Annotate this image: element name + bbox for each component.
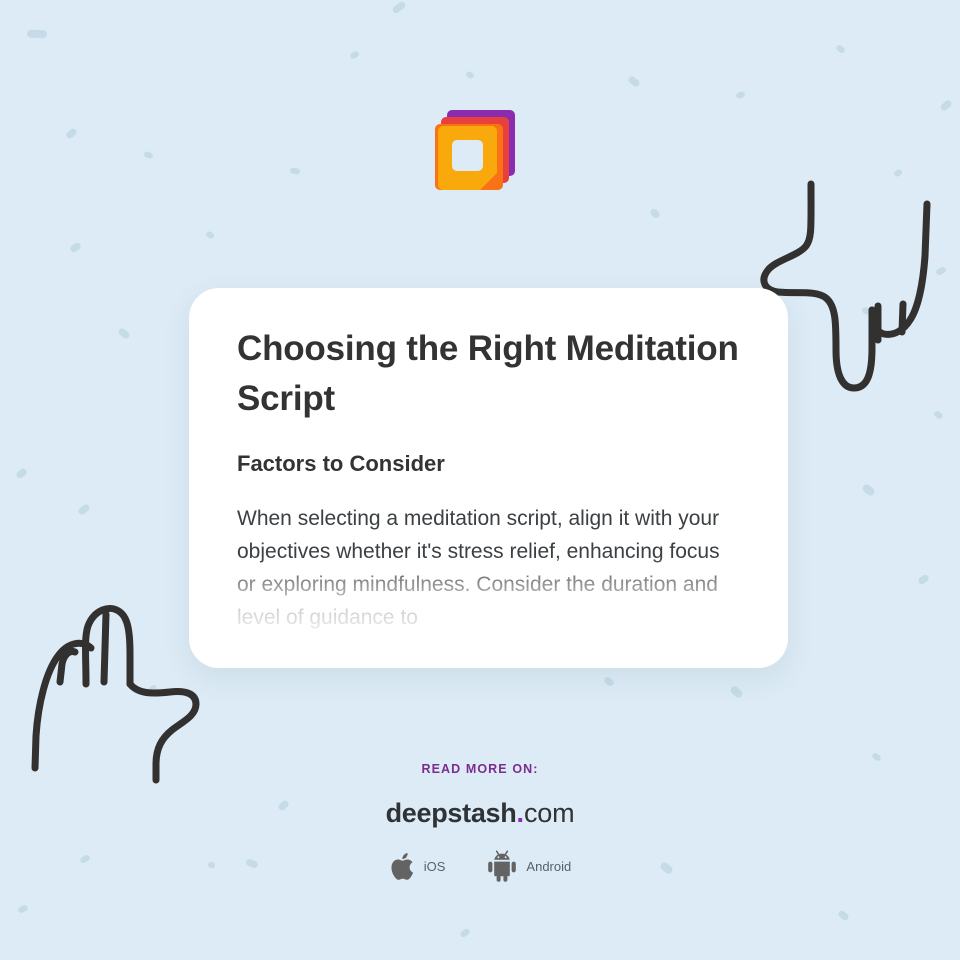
speckle: [917, 573, 930, 585]
speckle: [861, 483, 876, 497]
speckle: [65, 127, 78, 140]
speckle: [861, 306, 871, 316]
card-subtitle: Factors to Consider: [237, 450, 740, 478]
brand-name: deepstash: [386, 798, 517, 828]
apple-icon: [389, 851, 415, 882]
speckle: [147, 684, 158, 694]
speckle: [835, 44, 846, 54]
ios-store-link[interactable]: iOS: [389, 851, 446, 882]
speckle: [933, 410, 944, 420]
speckle: [729, 685, 744, 700]
app-store-links: iOS And: [0, 850, 960, 882]
speckle: [15, 467, 28, 479]
logo-inner-window: [452, 140, 483, 171]
card-title: Choosing the Right Meditation Script: [237, 324, 740, 424]
speckle: [939, 99, 953, 112]
footer: READ MORE ON: deepstash.com iOS: [0, 762, 960, 882]
speckle: [349, 50, 360, 60]
brand-tld: com: [524, 798, 574, 828]
speckle: [837, 909, 850, 921]
speckle: [27, 30, 47, 39]
read-more-label: READ MORE ON:: [0, 762, 960, 776]
speckle: [459, 928, 471, 939]
speckle: [649, 208, 661, 220]
brand-dot: .: [516, 798, 524, 828]
speckle: [77, 503, 91, 516]
speckle: [871, 752, 882, 762]
speckle: [627, 75, 641, 88]
brand-wordmark[interactable]: deepstash.com: [0, 798, 960, 828]
android-icon: [487, 850, 517, 882]
speckle: [391, 0, 406, 14]
content-card: Choosing the Right Meditation Script Fac…: [189, 288, 788, 668]
speckle: [935, 266, 947, 276]
speckle: [17, 904, 29, 914]
android-store-link[interactable]: Android: [487, 850, 571, 882]
deepstash-logo: [424, 98, 524, 202]
speckle: [117, 327, 131, 340]
speckle: [290, 167, 301, 175]
deepstash-share-card: Choosing the Right Meditation Script Fac…: [0, 0, 960, 960]
speckle: [465, 70, 475, 79]
pointing-up-hand-icon: [18, 552, 218, 790]
speckle: [69, 241, 82, 253]
speckle: [143, 151, 154, 160]
android-store-label: Android: [526, 859, 571, 874]
speckle: [893, 168, 903, 177]
card-body-text: When selecting a meditation script, alig…: [237, 502, 740, 634]
speckle: [205, 230, 215, 239]
speckle: [735, 91, 746, 100]
ios-store-label: iOS: [424, 859, 446, 874]
speckle: [603, 676, 615, 688]
